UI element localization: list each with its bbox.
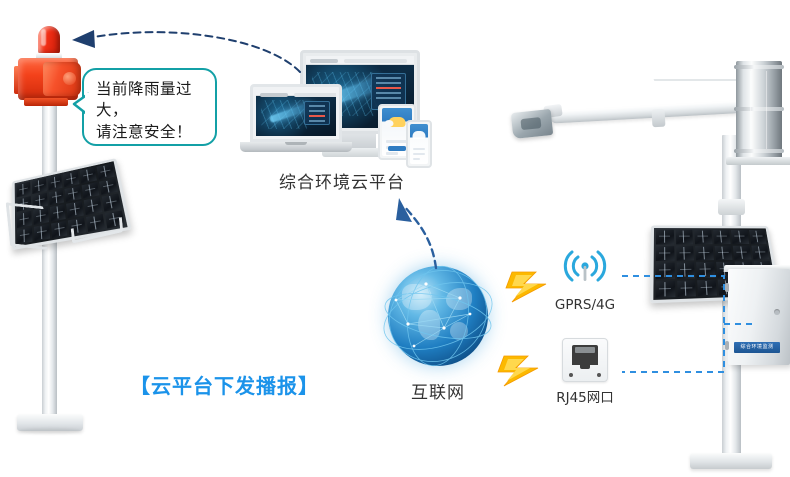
weather-monitoring-station: 综合环境监测 [500,35,790,477]
horn-bell [43,62,81,96]
cloud-icon [389,117,406,127]
cloud-platform-label: 综合环境云平台 [238,168,446,193]
sensor-head [511,109,553,139]
control-cabinet: 综合环境监测 [728,269,790,365]
smartphone [406,120,432,168]
rain-gauge-mount [726,157,790,165]
cabinet-latch [774,309,780,315]
diagram-canvas: 当前降雨量过大， 请注意安全！ [0,0,790,477]
cabinet-tag: 综合环境监测 [734,342,780,353]
station-base-plate [690,453,772,469]
speech-bubble-line-1: 当前降雨量过大， [96,79,207,122]
rain-gauge [736,61,782,161]
cabinet-tag-text: 综合环境监测 [734,342,780,353]
alarm-base-shadow [20,428,80,434]
laptop [250,84,342,142]
cloud-icon-small [413,131,426,139]
laptop-notch [285,142,307,145]
page-caption: 【云平台下发播报】 [130,370,350,399]
alarm-speech-bubble: 当前降雨量过大， 请注意安全！ [82,68,217,146]
arm-clamp [652,109,666,128]
speech-bubble-line-2: 请注意安全！ [96,122,207,143]
horn-foot [24,98,68,106]
pole-collar [718,199,745,215]
speech-bubble-tail [71,92,87,116]
internet-label: 互联网 [378,378,498,403]
internet-globe: 互联网 [378,258,498,376]
globe-sphere [388,266,488,366]
phone-screen [410,124,428,164]
cantilever-arm [550,101,740,124]
solar-panel-left [4,158,127,248]
laptop-screen [256,90,336,136]
cloud-platform-devices [238,50,446,180]
